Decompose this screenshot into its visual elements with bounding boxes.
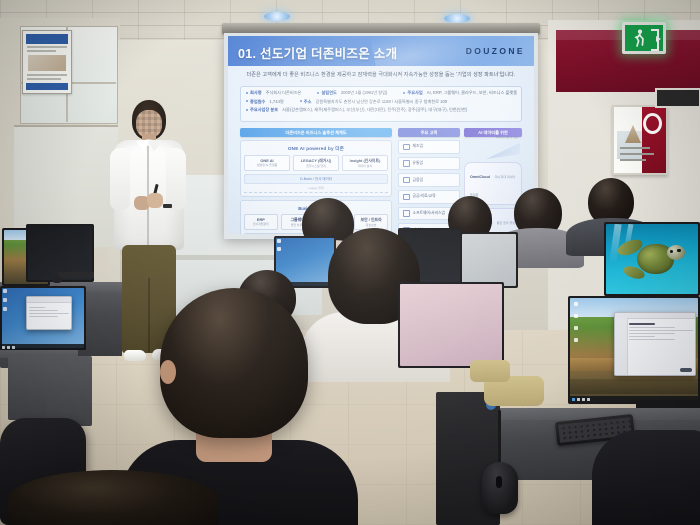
monitor-screen-turtle-wallpaper xyxy=(606,224,698,294)
customer-item: 유통업 xyxy=(398,157,460,171)
ceiling-light xyxy=(264,12,290,21)
cart-icon xyxy=(403,194,410,201)
monitor-bezel xyxy=(0,286,86,350)
info-value: 1,744명 xyxy=(269,99,283,105)
decorative-swoosh xyxy=(486,143,520,159)
slide-lead-text: 더존은 고객에게 더 좋은 비즈니스 환경을 제공하고 잠재력을 극대화시켜 지… xyxy=(242,72,520,80)
one-ai-brand: ONE AI powered by 더존 xyxy=(244,144,388,155)
item-key: OmniCloud xyxy=(470,175,490,179)
column-header: 더존비즈온 비즈니스 솔루션 체계도 xyxy=(240,128,392,137)
emergency-exit-sign xyxy=(622,22,666,54)
foreground-person-head xyxy=(160,288,308,438)
chair-back xyxy=(470,360,510,382)
info-value: AI, ERP, 그룹웨어, 클라우드, 보안, 비즈니스 플랫폼 xyxy=(427,90,517,96)
framed-wall-poster xyxy=(612,105,668,175)
chart-icon xyxy=(403,210,410,217)
taskbar-icon[interactable] xyxy=(587,398,590,401)
chip-sub: 업무시스템 연계 xyxy=(294,164,338,168)
info-row: 종업원수 1,744명 주소 강원특별자치도 춘천시 남산면 강촌로 1188 … xyxy=(246,99,516,105)
chip-sub: 생성형 AI 플랫폼 xyxy=(245,163,289,167)
mouse xyxy=(52,276,62,283)
info-key: 회사명 xyxy=(246,90,262,96)
dialog-confirm-button[interactable] xyxy=(680,368,692,372)
taskbar-icon[interactable] xyxy=(577,398,580,401)
foreground-person-ear xyxy=(160,360,176,384)
wall-mounted-box xyxy=(655,88,700,108)
monitor-bezel xyxy=(398,282,504,368)
monitor-screen xyxy=(462,234,516,286)
customer-label: 유통업 xyxy=(413,161,423,166)
keyboard xyxy=(58,272,94,278)
turtle-eye xyxy=(670,250,673,253)
solution-chip: Insight (인사이트) 데이터 분석 xyxy=(342,155,388,171)
solution-chip-row: ONE AI 생성형 AI 플랫폼 LEGACY (레거시) 업무시스템 연계 … xyxy=(244,155,388,171)
foreground-person-shoulder xyxy=(592,430,700,525)
info-value: 주식회사 더존비즈온 xyxy=(266,90,302,96)
info-key: 주소 xyxy=(300,99,312,105)
running-person-icon xyxy=(634,29,646,47)
turtle-eye xyxy=(677,249,680,252)
info-key: 종업원수 xyxy=(246,99,265,105)
start-icon[interactable] xyxy=(572,398,575,401)
platform-chip: ERP 전사자원관리 xyxy=(244,214,278,230)
monitor-bezel xyxy=(568,296,700,404)
company-info-table: 회사명 주식회사 더존비즈온 설립연도 2000년 1월 (1991년 창업) … xyxy=(240,86,522,122)
chip-sub: 정보보호 xyxy=(355,223,387,227)
ceiling-light xyxy=(444,14,470,23)
monitor-right-turtle xyxy=(604,222,700,296)
monitor-bezel xyxy=(604,222,700,296)
monitor xyxy=(0,286,86,350)
home-icon xyxy=(403,144,410,151)
presentation-slide: 01. 선도기업 더존비즈온 소개 DOUZONE 더존은 고객에게 더 좋은 … xyxy=(228,36,534,234)
quarter-note: 2024년 1분기 기준 xyxy=(496,135,518,139)
mouse-cable xyxy=(498,410,501,466)
turtle-head xyxy=(667,245,685,260)
chip-sub: 전사자원관리 xyxy=(245,222,277,226)
legacy-arch-note: Legacy 연계 xyxy=(244,186,388,193)
slide-title: 01. 선도기업 더존비즈온 소개 xyxy=(238,43,397,62)
monitor-screen xyxy=(400,284,502,366)
solution-chip: ONE AI 생성형 AI 플랫폼 xyxy=(244,155,290,171)
customer-label: 금융업 xyxy=(413,178,423,183)
info-key: 주요사업장 분포 xyxy=(246,107,278,113)
presenter-hand xyxy=(147,193,163,208)
customer-label: 소프트웨어/서비스업 xyxy=(413,211,446,216)
student-head xyxy=(8,470,218,525)
trouser-crease xyxy=(148,278,150,352)
monitor-right-lower xyxy=(568,296,700,404)
wired-mouse[interactable] xyxy=(482,462,518,514)
solution-chip: LEGACY (레거시) 업무시스템 연계 xyxy=(293,155,339,171)
mouse-wheel[interactable] xyxy=(496,476,502,488)
chip-sub: 데이터 분석 xyxy=(343,164,387,168)
monitor-screen xyxy=(2,288,84,348)
dialog-window[interactable] xyxy=(26,296,72,330)
monitor-bezel xyxy=(460,232,518,288)
classroom-photo-scene: 01. 선도기업 더존비즈온 소개 DOUZONE 더존은 고객에게 더 좋은 … xyxy=(0,0,700,525)
presenter-arm xyxy=(110,148,130,210)
monitor-screen-landscape-wallpaper xyxy=(570,298,698,402)
info-value: 2000년 1월 (1991년 창업) xyxy=(341,90,388,96)
desk-pedestal xyxy=(46,356,92,426)
wall-notice-poster xyxy=(22,30,72,94)
customer-label: 공공/의료/교육 xyxy=(413,194,436,199)
monitor xyxy=(460,232,518,288)
customer-item: 제조업 xyxy=(398,140,460,154)
exit-arrow-icon xyxy=(656,36,661,42)
dialog-window[interactable] xyxy=(614,312,696,376)
info-value: 서울(강촌캠퍼스), 제주(제주캠퍼스), 부산(부산), 대전(대전), 전주… xyxy=(282,107,467,113)
poster-circle-mark xyxy=(643,113,662,134)
douzone-logo: DOUZONE xyxy=(466,46,525,56)
column-header: 주요 고객 xyxy=(398,128,460,137)
solution-panel: ONE AI powered by 더존 ONE AI 생성형 AI 플랫폼 L… xyxy=(240,140,392,197)
customer-item: 금융업 xyxy=(398,173,460,187)
slide-header: 01. 선도기업 더존비즈온 소개 DOUZONE xyxy=(228,36,534,66)
info-key: 주요사업 xyxy=(403,90,422,96)
wristwatch xyxy=(163,204,172,208)
info-value: 강원특별자치도 춘천시 남산면 강촌로 1188 / 서울특별시 중구 청계천로… xyxy=(315,99,447,105)
building-icon xyxy=(403,160,410,167)
dialog-sidebar xyxy=(615,318,628,375)
dbrain-bar: D-Brain / 전사 데이터 xyxy=(244,174,388,184)
customer-item: 공공/의료/교육 xyxy=(398,190,460,204)
sneaker xyxy=(124,350,146,361)
taskbar-icon[interactable] xyxy=(582,398,585,401)
info-row: 회사명 주식회사 더존비즈온 설립연도 2000년 1월 (1991년 창업) … xyxy=(246,90,516,96)
info-row: 주요사업장 분포 서울(강촌캠퍼스), 제주(제주캠퍼스), 부산(부산), 대… xyxy=(246,107,516,113)
document-icon xyxy=(403,177,410,184)
presenter-arm xyxy=(166,148,186,210)
info-key: 설립연도 xyxy=(317,90,336,96)
monitor xyxy=(398,282,504,368)
customer-label: 제조업 xyxy=(413,144,423,149)
